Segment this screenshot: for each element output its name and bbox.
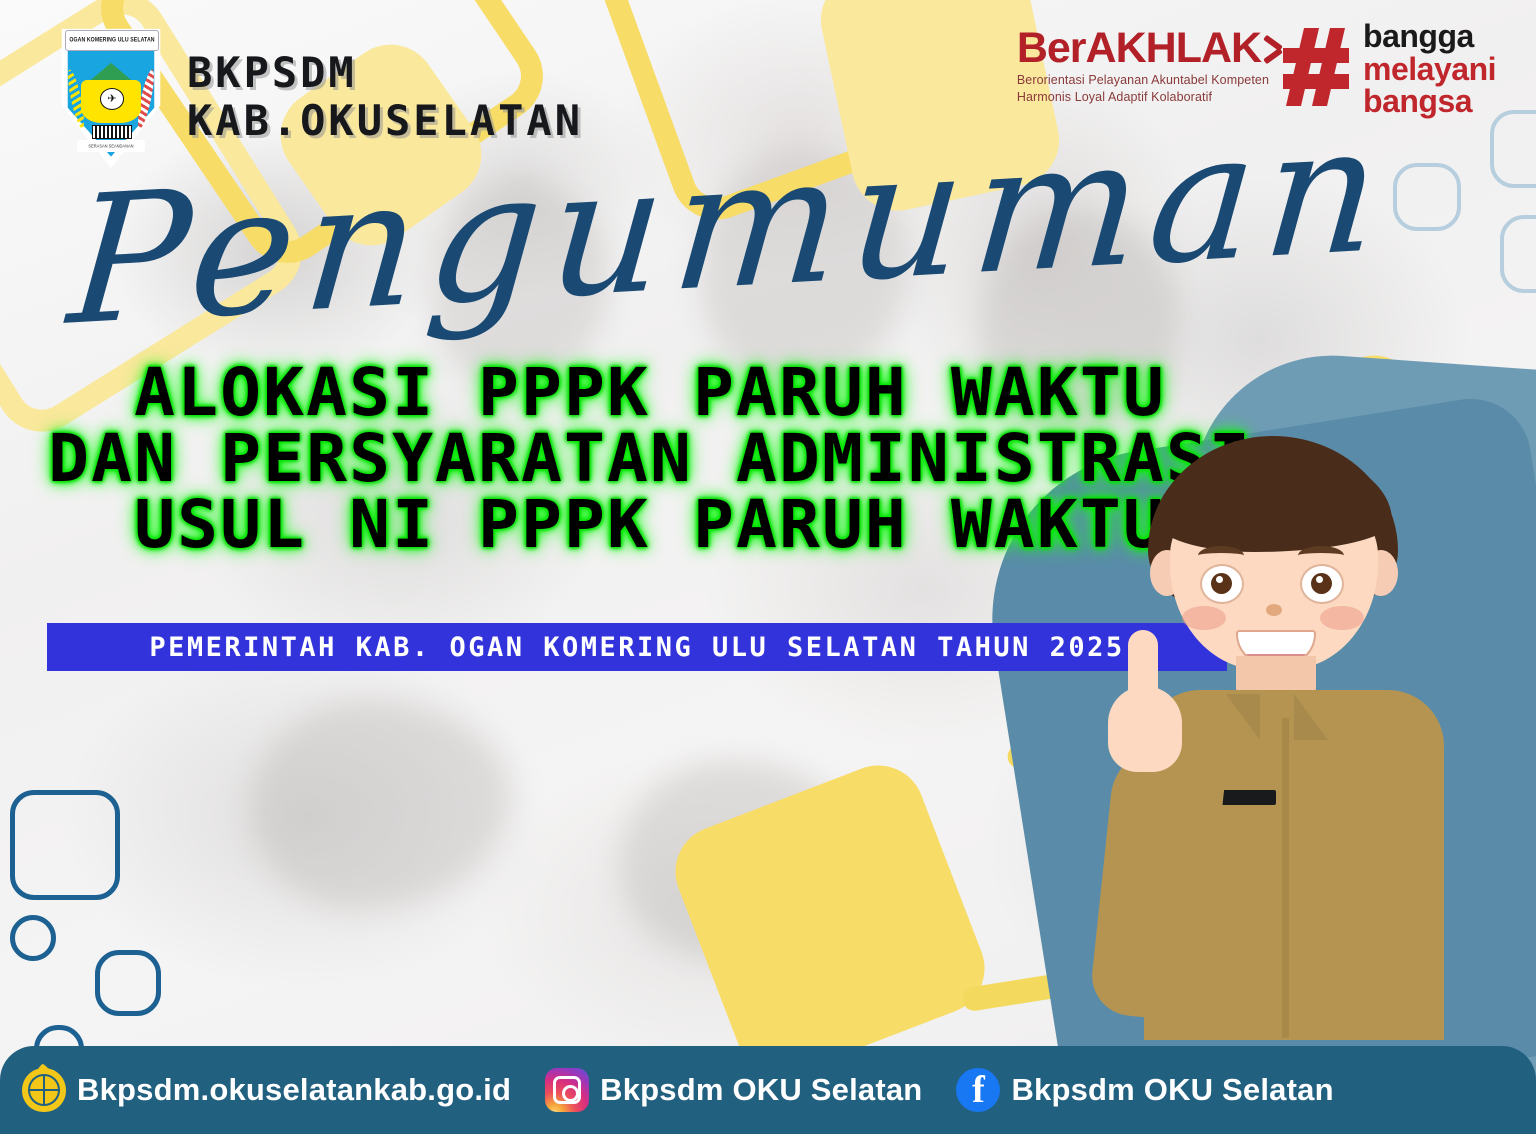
headline-line-1: ALOKASI PPPK PARUH WAKTU — [0, 360, 1320, 426]
blue-square-outline — [95, 950, 161, 1016]
mascot-nose — [1266, 604, 1282, 616]
footer-website[interactable]: Bkpsdm.okuselatankab.go.id — [22, 1068, 511, 1112]
website-label: Bkpsdm.okuselatankab.go.id — [77, 1072, 511, 1108]
berakhlak-tagline-line-1: Berorientasi Pelayanan Akuntabel Kompete… — [1017, 72, 1269, 89]
mascot-blush-left — [1182, 606, 1226, 630]
mascot-placket — [1282, 718, 1289, 1038]
mascot-brow-left — [1198, 546, 1244, 565]
berakhlak-wordmark: BerAKHLAK — [1017, 28, 1269, 69]
blue-square-outline-faint — [1500, 215, 1536, 293]
government-banner-text: PEMERINTAH KAB. OGAN KOMERING ULU SELATA… — [149, 632, 1124, 663]
mascot-blush-right — [1320, 606, 1364, 630]
blue-square-outline-faint — [1490, 110, 1536, 188]
mascot-pointing-finger — [1128, 630, 1158, 712]
instagram-label: Bkpsdm OKU Selatan — [600, 1072, 922, 1108]
crest-top-text: OGAN KOMERING ULU SELATAN — [69, 37, 154, 45]
footer-contact-bar: Bkpsdm.okuselatankab.go.id Bkpsdm OKU Se… — [0, 1046, 1536, 1134]
announcement-poster: OGAN KOMERING ULU SELATAN ✈ SERASAN SEAN… — [0, 0, 1536, 1134]
facebook-label: Bkpsdm OKU Selatan — [1011, 1072, 1333, 1108]
berakhlak-word-text: BerAKHLAK — [1017, 24, 1261, 72]
crest-ribbon-text: SERASAN SEANDANAN — [88, 143, 133, 149]
footer-instagram[interactable]: Bkpsdm OKU Selatan — [545, 1068, 922, 1112]
wordmark: BKPSDM KAB.OKUSELATAN — [187, 49, 583, 145]
facebook-icon: f — [956, 1068, 1000, 1112]
mascot-brow-right — [1298, 546, 1344, 565]
footer-facebook[interactable]: f Bkpsdm OKU Selatan — [956, 1068, 1333, 1112]
instagram-icon — [545, 1068, 589, 1112]
crest-top-band: OGAN KOMERING ULU SELATAN — [65, 30, 159, 50]
mascot-collar-right — [1294, 694, 1328, 740]
bangga-line: bangga — [1363, 20, 1496, 53]
wordmark-line-1: BKPSDM — [187, 49, 583, 97]
civil-servant-mascot — [1086, 418, 1516, 1038]
mascot-collar-left — [1226, 694, 1260, 740]
blue-square-outline — [10, 915, 56, 961]
globe-icon — [22, 1068, 66, 1112]
blue-square-outline — [10, 790, 120, 900]
crest-ribbon: SERASAN SEANDANAN — [77, 140, 144, 153]
berakhlak-left: BerAKHLAK Berorientasi Pelayanan Akuntab… — [1017, 12, 1269, 106]
crest-steps — [92, 125, 132, 138]
mascot-eye-right — [1300, 564, 1344, 604]
regency-crest-icon: OGAN KOMERING ULU SELATAN ✈ SERASAN SEAN… — [55, 26, 167, 168]
government-banner: PEMERINTAH KAB. OGAN KOMERING ULU SELATA… — [47, 623, 1227, 671]
mascot-eye-left — [1200, 564, 1244, 604]
blue-square-outline-faint — [1393, 163, 1461, 231]
melayani-line: melayani — [1363, 53, 1496, 86]
